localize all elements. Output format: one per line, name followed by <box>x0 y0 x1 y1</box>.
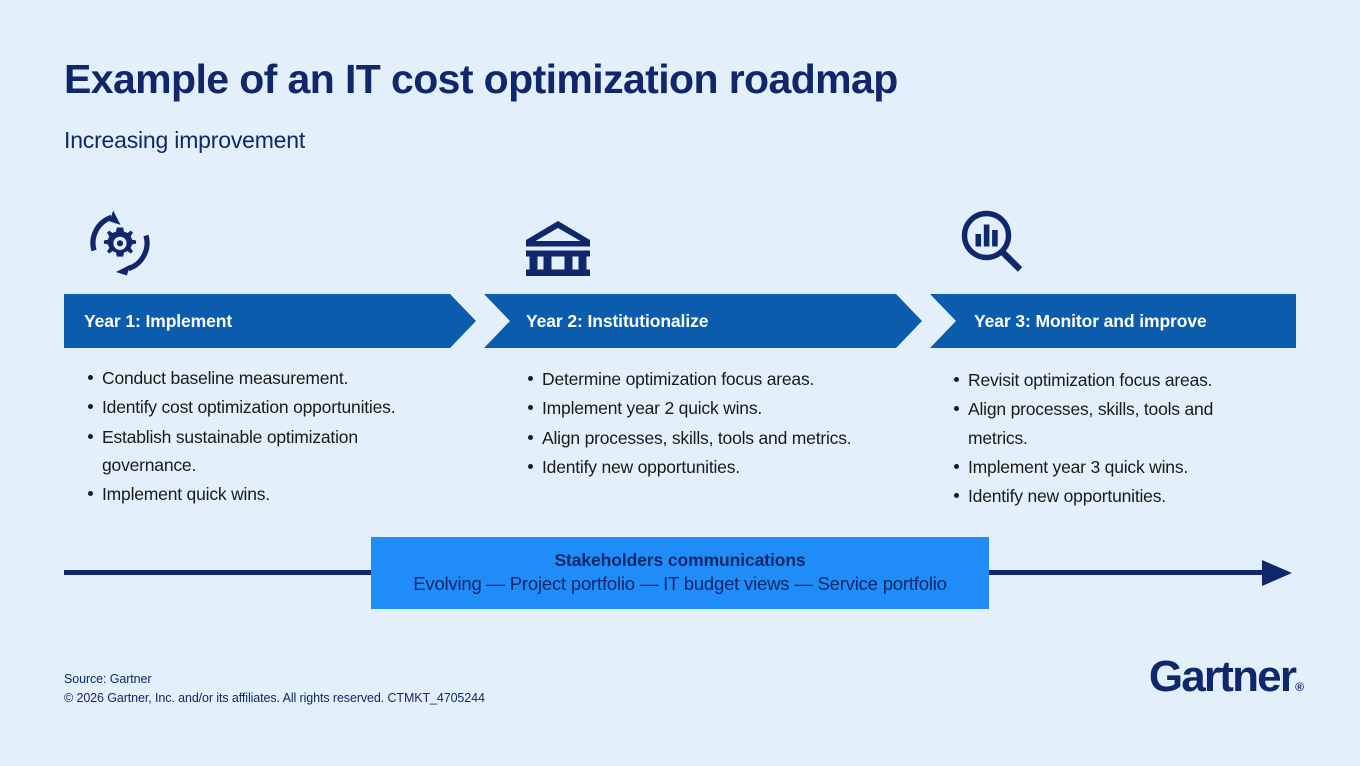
list-item: Identify new opportunities. <box>968 482 1266 510</box>
phase-chevron-row: Year 1: Implement Year 2: Institutionali… <box>64 294 1296 348</box>
slide-canvas: Example of an IT cost optimization roadm… <box>0 0 1360 766</box>
gartner-logo: Gartner® <box>1149 655 1304 699</box>
comms-banner-title: Stakeholders communications <box>554 549 805 573</box>
list-item: Identify cost optimization opportunities… <box>102 393 450 421</box>
footer-source: Source: Gartner <box>64 670 485 689</box>
phase-chevron-year-2[interactable]: Year 2: Institutionalize <box>484 294 922 348</box>
list-item: Align processes, skills, tools and metri… <box>542 424 860 452</box>
footer-attribution: Source: Gartner © 2026 Gartner, Inc. and… <box>64 670 485 708</box>
phase-label-year-2: Year 2: Institutionalize <box>526 311 708 332</box>
footer-copyright: © 2026 Gartner, Inc. and/or its affiliat… <box>64 689 485 708</box>
page-title: Example of an IT cost optimization roadm… <box>64 56 898 103</box>
bullet-list-year-2: Determine optimization focus areas. Impl… <box>520 365 860 482</box>
list-item: Identify new opportunities. <box>542 453 860 481</box>
list-item: Implement year 3 quick wins. <box>968 453 1266 481</box>
magnifier-bar-chart-icon <box>955 205 1027 277</box>
list-item: Implement year 2 quick wins. <box>542 394 860 422</box>
registered-trademark-icon: ® <box>1295 680 1304 694</box>
list-item: Revisit optimization focus areas. <box>968 366 1266 394</box>
stakeholders-communications-banner: Stakeholders communications Evolving — P… <box>371 537 989 609</box>
phase-chevron-year-3[interactable]: Year 3: Monitor and improve <box>930 294 1296 348</box>
comms-banner-subtitle: Evolving — Project portfolio — IT budget… <box>413 572 946 597</box>
gartner-logo-text: Gartner <box>1149 652 1295 701</box>
bullet-list-year-3: Revisit optimization focus areas. Align … <box>946 366 1266 512</box>
gear-refresh-icon <box>84 207 156 279</box>
list-item: Implement quick wins. <box>102 480 450 508</box>
timeline-arrowhead-icon <box>1262 560 1292 586</box>
list-item: Align processes, skills, tools and metri… <box>968 395 1266 452</box>
list-item: Establish sustainable optimization gover… <box>102 423 450 480</box>
phase-label-year-3: Year 3: Monitor and improve <box>974 311 1207 332</box>
list-item: Conduct baseline measurement. <box>102 364 450 392</box>
bullet-list-year-1: Conduct baseline measurement. Identify c… <box>80 364 450 510</box>
institution-building-icon <box>522 211 594 283</box>
phase-label-year-1: Year 1: Implement <box>84 311 232 332</box>
list-item: Determine optimization focus areas. <box>542 365 860 393</box>
phase-chevron-year-1[interactable]: Year 1: Implement <box>64 294 476 348</box>
page-subtitle: Increasing improvement <box>64 127 305 154</box>
